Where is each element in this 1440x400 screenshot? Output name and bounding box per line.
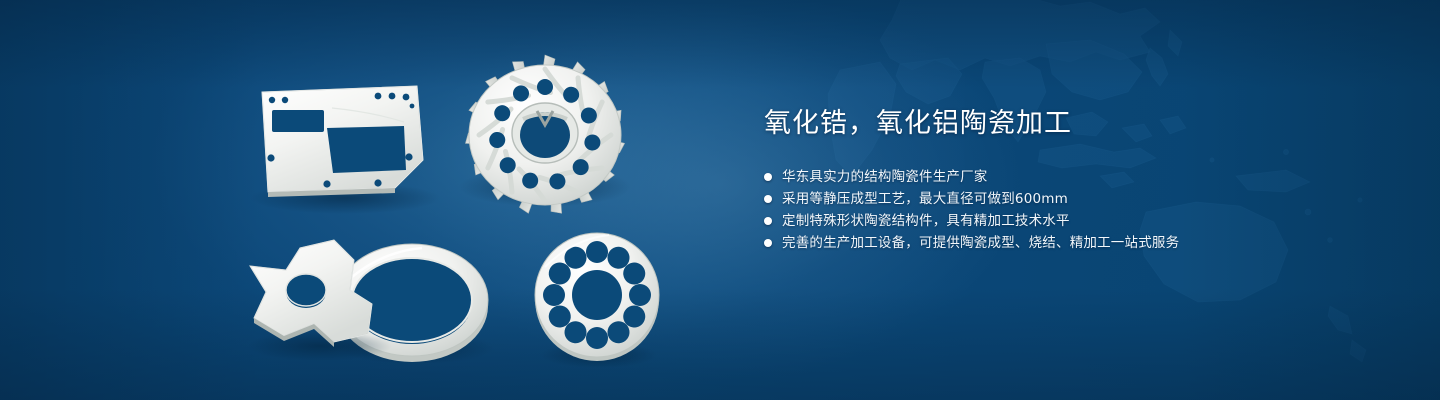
list-item: 定制特殊形状陶瓷结构件，具有精加工技术水平 (764, 210, 1404, 232)
promo-banner: 氧化锆，氧化铝陶瓷加工 华东具实力的结构陶瓷件生产厂家 采用等静压成型工艺，最大… (0, 0, 1440, 400)
bullet-text: 完善的生产加工设备，可提供陶瓷成型、烧结、精加工一站式服务 (782, 232, 1179, 254)
product-photo-group (0, 0, 720, 400)
list-item: 完善的生产加工设备，可提供陶瓷成型、烧结、精加工一站式服务 (764, 232, 1404, 254)
banner-text-block: 氧化锆，氧化铝陶瓷加工 华东具实力的结构陶瓷件生产厂家 采用等静压成型工艺，最大… (764, 104, 1404, 254)
banner-bullet-list: 华东具实力的结构陶瓷件生产厂家 采用等静压成型工艺，最大直径可做到600mm 定… (764, 166, 1404, 254)
bullet-dot-icon (764, 173, 772, 181)
bullet-dot-icon (764, 239, 772, 247)
list-item: 华东具实力的结构陶瓷件生产厂家 (764, 166, 1404, 188)
bullet-text: 华东具实力的结构陶瓷件生产厂家 (782, 166, 988, 188)
ceramic-plate-with-cutouts (250, 86, 440, 214)
list-item: 采用等静压成型工艺，最大直径可做到600mm (764, 188, 1404, 210)
bullet-text: 定制特殊形状陶瓷结构件，具有精加工技术水平 (782, 210, 1070, 232)
banner-headline: 氧化锆，氧化铝陶瓷加工 (764, 104, 1404, 144)
bullet-text: 采用等静压成型工艺，最大直径可做到600mm (782, 188, 1068, 210)
bullet-dot-icon (764, 195, 772, 203)
bullet-dot-icon (764, 217, 772, 225)
ceramic-impeller-rotor (459, 55, 631, 215)
ceramic-perforated-disc (535, 233, 659, 368)
